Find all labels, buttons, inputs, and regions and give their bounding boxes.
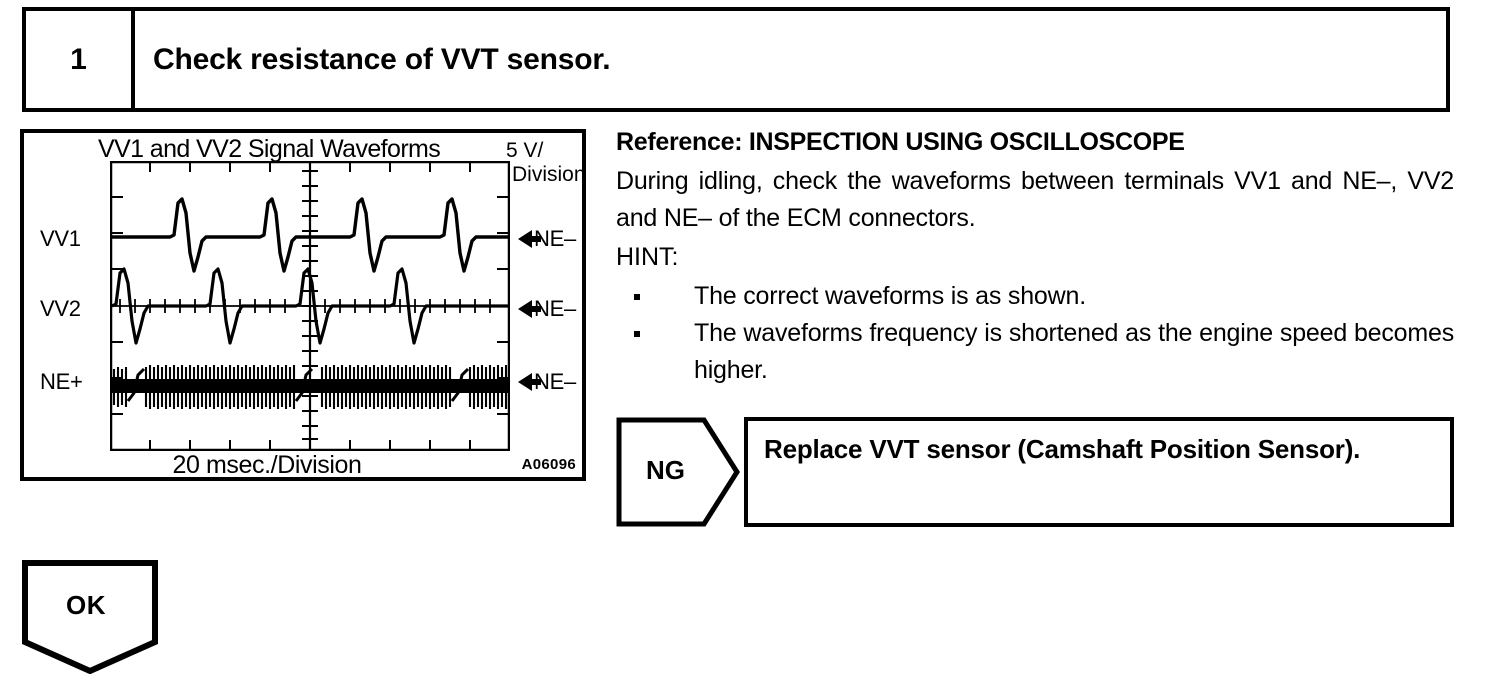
list-item: The correct waveforms is as shown. bbox=[616, 278, 1454, 315]
step-number-cell: 1 bbox=[26, 11, 135, 108]
oscilloscope-figure-panel: VV1 and VV2 Signal Waveforms 5 V/ Divisi… bbox=[20, 129, 586, 481]
reference-text-column: Reference: INSPECTION USING OSCILLOSCOPE… bbox=[616, 128, 1454, 389]
hint-text: The waveforms frequency is shortened as … bbox=[694, 319, 1454, 384]
channel-label-vv1: VV1 bbox=[40, 226, 81, 252]
step-header-box: 1 Check resistance of VVT sensor. bbox=[22, 7, 1450, 112]
step-title-cell: Check resistance of VVT sensor. bbox=[135, 11, 1446, 108]
reference-heading-main: INSPECTION USING OSCILLOSCOPE bbox=[749, 128, 1185, 156]
vertical-scale-line2: Division bbox=[506, 163, 586, 187]
ng-result-box: Replace VVT sensor (Camshaft Position Se… bbox=[744, 417, 1454, 527]
reference-marker-vv1: NE– bbox=[518, 226, 576, 252]
ok-label: OK bbox=[66, 590, 106, 621]
reference-heading-prefix: Reference: bbox=[616, 128, 742, 156]
ng-branch: NG Replace VVT sensor (Camshaft Position… bbox=[616, 417, 1454, 527]
channel-label-vv2: VV2 bbox=[40, 296, 81, 322]
ok-branch: OK bbox=[22, 560, 162, 674]
figure-title: VV1 and VV2 Signal Waveforms bbox=[98, 135, 440, 164]
step-title: Check resistance of VVT sensor. bbox=[153, 43, 610, 77]
hint-list: The correct waveforms is as shown. The w… bbox=[616, 278, 1454, 389]
vertical-scale-label: 5 V/ Division bbox=[506, 139, 586, 187]
time-base-label: 20 msec./Division bbox=[24, 451, 510, 480]
reference-body: During idling, check the waveforms betwe… bbox=[616, 163, 1454, 237]
vertical-scale-line1: 5 V/ bbox=[506, 139, 543, 162]
hint-label: HINT: bbox=[616, 239, 1454, 276]
step-number: 1 bbox=[70, 43, 87, 77]
arrow-left-icon bbox=[518, 230, 532, 248]
oscilloscope-graticule bbox=[110, 161, 510, 451]
figure-code: A06096 bbox=[522, 456, 576, 473]
ng-chevron-shape: NG bbox=[616, 417, 740, 527]
reference-marker-ne-plus: NE– bbox=[518, 369, 576, 395]
ng-result-text: Replace VVT sensor (Camshaft Position Se… bbox=[764, 433, 1434, 465]
arrow-left-icon bbox=[518, 373, 532, 391]
arrow-left-icon bbox=[518, 300, 532, 318]
reference-paragraph: During idling, check the waveforms betwe… bbox=[616, 163, 1454, 237]
channel-label-ne-plus: NE+ bbox=[40, 369, 83, 395]
reference-marker-vv2: NE– bbox=[518, 296, 576, 322]
ng-label: NG bbox=[646, 455, 685, 486]
list-item: The waveforms frequency is shortened as … bbox=[616, 315, 1454, 389]
bullet-icon bbox=[634, 294, 640, 300]
reference-heading: Reference: INSPECTION USING OSCILLOSCOPE bbox=[616, 128, 1454, 157]
hint-text: The correct waveforms is as shown. bbox=[694, 282, 1086, 310]
bullet-icon bbox=[634, 331, 640, 337]
